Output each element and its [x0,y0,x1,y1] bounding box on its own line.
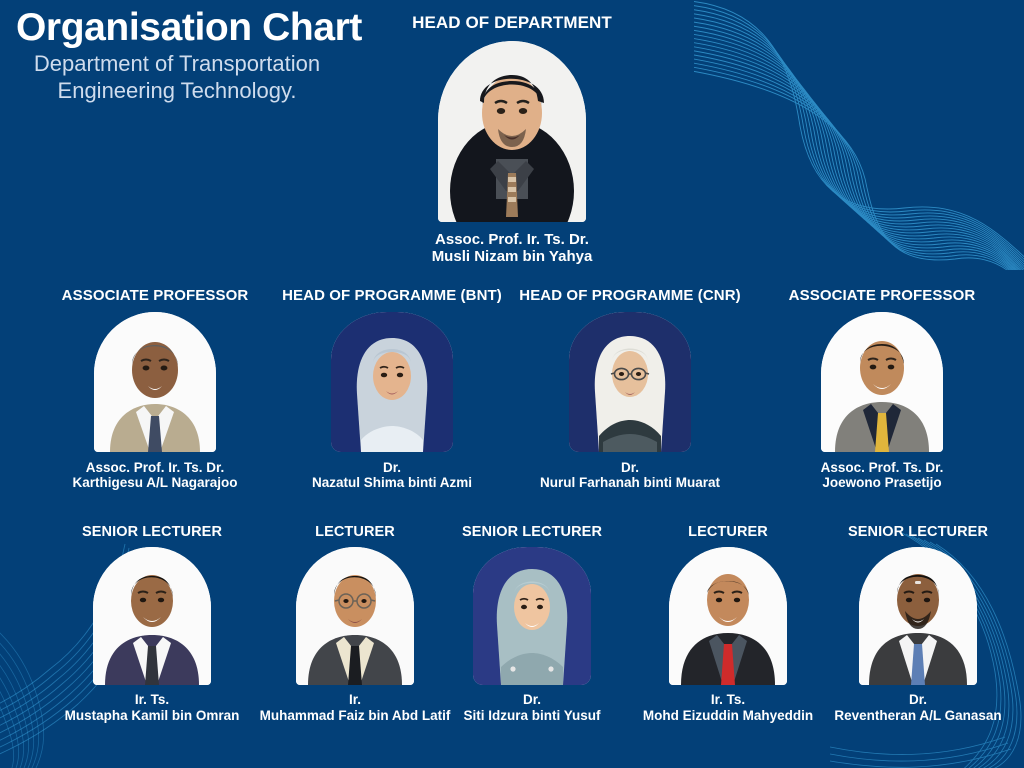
person-title-line: Assoc. Prof. Ir. Ts. Dr. [35,460,275,476]
person-card-joewono[interactable]: ASSOCIATE PROFESSOR Assoc. Prof. Ts. Dr.… [762,288,1002,491]
person-title-line: Assoc. Prof. Ir. Ts. Dr. [387,231,637,249]
person-name: Assoc. Prof. Ts. Dr. Joewono Prasetijo [762,460,1002,492]
portrait-photo-muhammad-faiz [296,547,414,685]
portrait-photo-siti-idzura [473,547,591,685]
person-title-line: Dr. [510,460,750,476]
portrait-photo-musli-nizam [438,41,586,222]
person-name: Dr. Nazatul Shima binti Azmi [272,460,512,492]
person-role-label: LECTURER [623,525,833,541]
portrait-photo-mustapha-kamil [93,547,211,685]
person-title-line: Dr. [813,692,1023,708]
person-card-nazatul-shima[interactable]: HEAD OF PROGRAMME (BNT) Dr. Nazatul Shim… [272,288,512,491]
person-card-karthigesu[interactable]: ASSOCIATE PROFESSOR Assoc. Prof. Ir. Ts.… [35,288,275,491]
page-subtitle: Department of Transportation Engineering… [12,51,342,105]
person-name-line: Mohd Eizuddin Mahyeddin [623,708,833,724]
person-card-head-of-department[interactable]: HEAD OF DEPARTMENT Assoc. Prof [387,14,637,266]
person-title-line: Ir. Ts. [623,692,833,708]
person-name-line: Nurul Farhanah binti Muarat [510,475,750,491]
portrait-photo-reventheran [859,547,977,685]
person-name: Dr. Siti Idzura binti Yusuf [427,692,637,724]
person-card-siti-idzura[interactable]: SENIOR LECTURER Dr. Siti Idzura binti Yu… [427,525,637,724]
person-card-reventheran[interactable]: SENIOR LECTURER Dr. Reventheran A/L Gana… [813,525,1023,724]
person-role-label: SENIOR LECTURER [47,525,257,541]
poster-header: Organisation Chart Department of Transpo… [16,8,416,105]
person-title-line: Dr. [427,692,637,708]
portrait-photo-karthigesu [94,312,216,452]
person-role-label: SENIOR LECTURER [427,525,637,541]
person-role-label: SENIOR LECTURER [813,525,1023,541]
portrait-photo-nazatul-shima [331,312,453,452]
person-name: Ir. Ts. Mohd Eizuddin Mahyeddin [623,692,833,724]
page-title: Organisation Chart [16,8,416,49]
person-name-line: Nazatul Shima binti Azmi [272,475,512,491]
organisation-chart-poster: Organisation Chart Department of Transpo… [0,0,1024,768]
portrait-photo-mohd-eizuddin [669,547,787,685]
wave-lines-top-right [694,0,1024,270]
person-name: Dr. Nurul Farhanah binti Muarat [510,460,750,492]
person-name: Assoc. Prof. Ir. Ts. Dr. Karthigesu A/L … [35,460,275,492]
person-name-line: Musli Nizam bin Yahya [387,248,637,266]
person-title-line: Ir. Ts. [47,692,257,708]
person-name: Ir. Ts. Mustapha Kamil bin Omran [47,692,257,724]
person-name: Dr. Reventheran A/L Ganasan [813,692,1023,724]
person-role-label: ASSOCIATE PROFESSOR [35,288,275,305]
person-name-line: Mustapha Kamil bin Omran [47,708,257,724]
person-card-mustapha-kamil[interactable]: SENIOR LECTURER Ir. Ts. Mustapha Kamil b… [47,525,257,724]
person-name-line: Siti Idzura binti Yusuf [427,708,637,724]
person-name-line: Karthigesu A/L Nagarajoo [35,475,275,491]
person-role-label: HEAD OF DEPARTMENT [387,14,637,33]
person-card-nurul-farhanah[interactable]: HEAD OF PROGRAMME (CNR) [510,288,750,491]
person-card-mohd-eizuddin[interactable]: LECTURER Ir. Ts. Mohd Eizuddin Mahyeddin [623,525,833,724]
person-title-line: Dr. [272,460,512,476]
person-title-line: Assoc. Prof. Ts. Dr. [762,460,1002,476]
person-role-label: HEAD OF PROGRAMME (CNR) [510,288,750,305]
person-role-label: HEAD OF PROGRAMME (BNT) [272,288,512,305]
person-role-label: ASSOCIATE PROFESSOR [762,288,1002,305]
portrait-photo-joewono [821,312,943,452]
portrait-photo-nurul-farhanah [569,312,691,452]
person-name: Assoc. Prof. Ir. Ts. Dr. Musli Nizam bin… [387,231,637,266]
person-name-line: Joewono Prasetijo [762,475,1002,491]
person-name-line: Reventheran A/L Ganasan [813,708,1023,724]
